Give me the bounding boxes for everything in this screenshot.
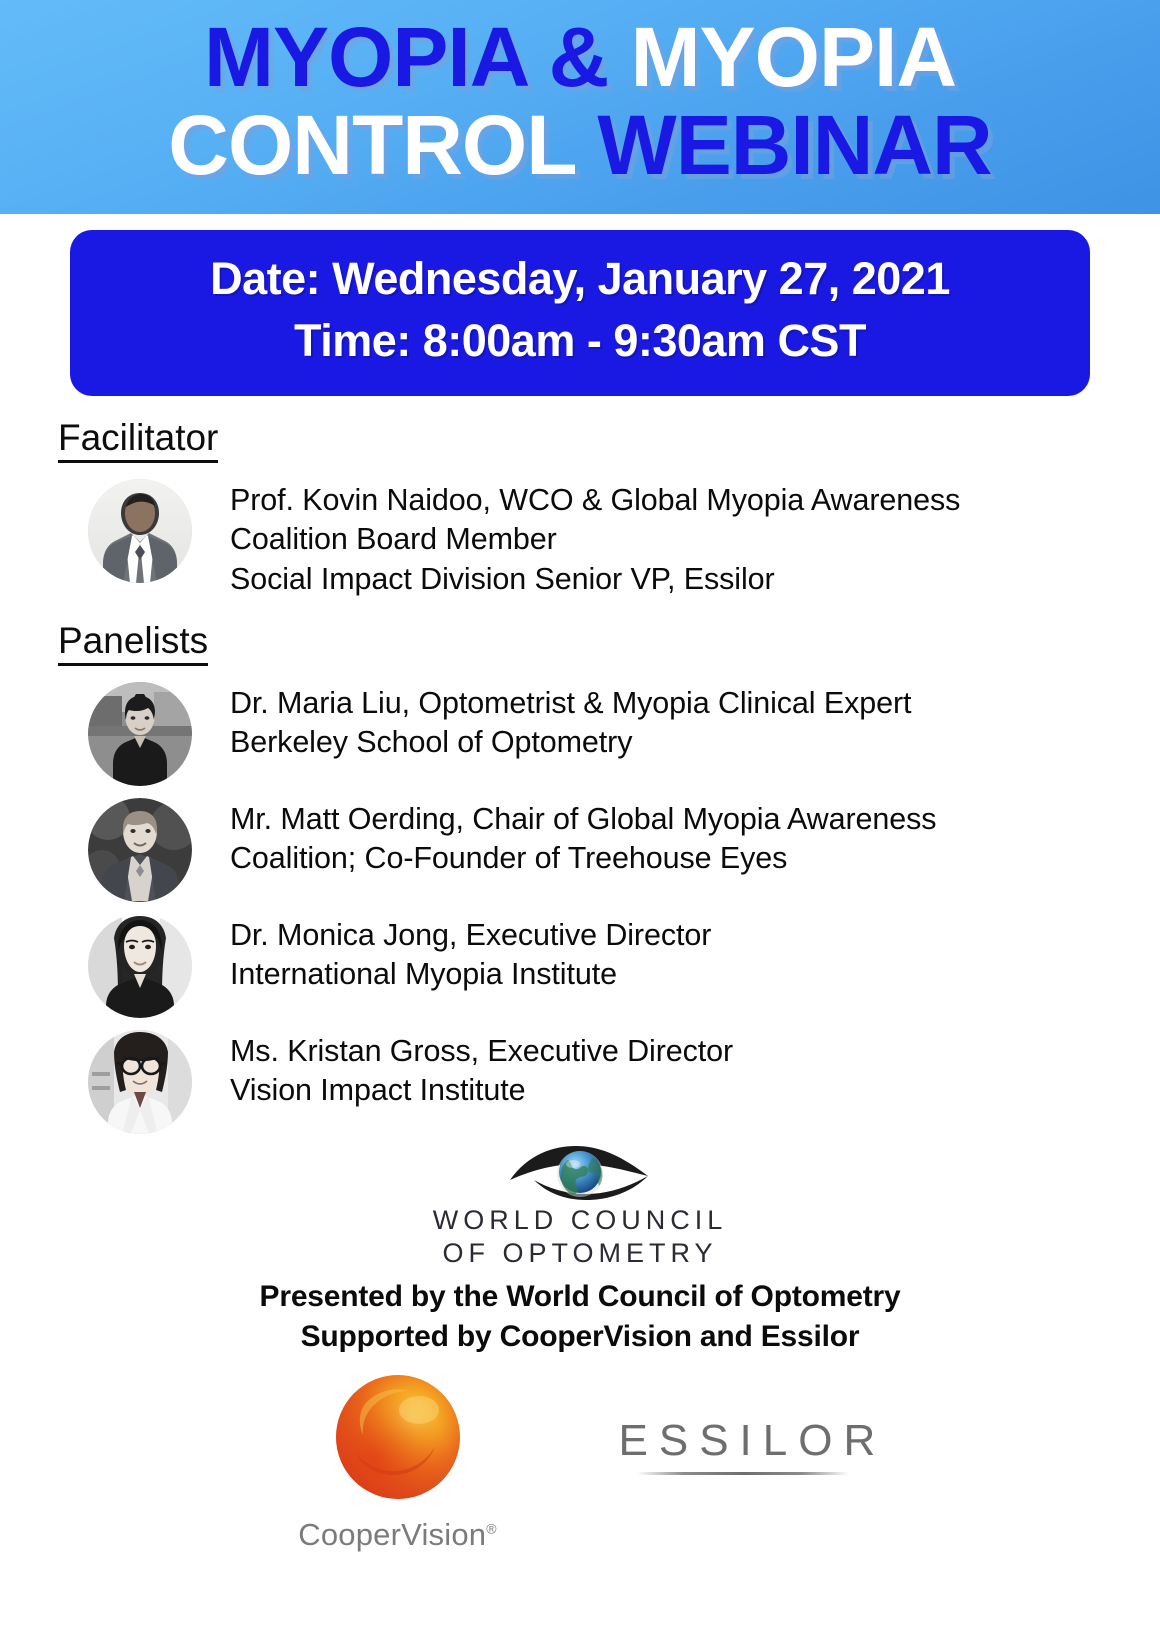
page-title-line-1: MYOPIA & MYOPIA	[0, 0, 1160, 98]
person-line: Prof. Kovin Naidoo, WCO & Global Myopia …	[230, 481, 960, 520]
sponsor-logos: CooperVision® ESSILOR	[0, 1366, 1160, 1553]
photo-kristan-gross	[88, 1030, 192, 1134]
eye-globe-icon	[480, 1140, 680, 1204]
person-line: Social Impact Division Senior VP, Essilo…	[230, 560, 960, 599]
photo-maria-liu	[88, 682, 192, 786]
coopervision-logo: CooperVision®	[283, 1366, 513, 1553]
photo-monica-jong	[88, 914, 192, 1018]
person-line: Coalition; Co-Founder of Treehouse Eyes	[230, 839, 936, 878]
panelists-heading: Panelists	[58, 621, 208, 666]
wco-logo-block: WORLD COUNCIL OF OPTOMETRY	[0, 1140, 1160, 1272]
wco-wordmark-line2: OF OPTOMETRY	[0, 1237, 1160, 1271]
person-line: Berkeley School of Optometry	[230, 723, 911, 762]
orange-sphere-icon	[327, 1366, 469, 1508]
facilitator-person: Prof. Kovin Naidoo, WCO & Global Myopia …	[88, 477, 1160, 599]
avatar	[88, 914, 192, 1018]
facilitator-section: Facilitator	[0, 396, 1160, 467]
person-line: Dr. Monica Jong, Executive Director	[230, 916, 711, 955]
datetime-banner: Date: Wednesday, January 27, 2021 Time: …	[70, 230, 1090, 396]
presented-by-text: Presented by the World Council of Optome…	[0, 1277, 1160, 1317]
title-part-control: CONTROL	[168, 98, 597, 192]
title-part-myopia-and: MYOPIA &	[204, 10, 631, 104]
header-banner: MYOPIA & MYOPIA CONTROL WEBINAR	[0, 0, 1160, 214]
avatar	[88, 682, 192, 786]
panelist-person: Dr. Monica Jong, Executive Director Inte…	[88, 912, 1160, 1018]
photo-kovin-naidoo	[88, 479, 192, 583]
page-title-line-2: CONTROL WEBINAR	[0, 98, 1160, 186]
facilitator-heading: Facilitator	[58, 418, 218, 463]
person-text: Ms. Kristan Gross, Executive Director Vi…	[230, 1028, 733, 1111]
person-line: Mr. Matt Oerding, Chair of Global Myopia…	[230, 800, 936, 839]
title-part-myopia: MYOPIA	[631, 10, 956, 104]
coopervision-wordmark: CooperVision®	[283, 1517, 513, 1553]
photo-matt-oerding	[88, 798, 192, 902]
avatar	[88, 798, 192, 902]
person-text: Dr. Maria Liu, Optometrist & Myopia Clin…	[230, 680, 911, 763]
person-text: Mr. Matt Oerding, Chair of Global Myopia…	[230, 796, 936, 879]
event-date: Date: Wednesday, January 27, 2021	[80, 248, 1080, 310]
person-line: International Myopia Institute	[230, 955, 711, 994]
person-line: Dr. Maria Liu, Optometrist & Myopia Clin…	[230, 684, 911, 723]
person-line: Coalition Board Member	[230, 520, 960, 559]
panelist-person: Ms. Kristan Gross, Executive Director Vi…	[88, 1028, 1160, 1134]
registered-mark: ®	[486, 1521, 497, 1537]
panelist-person: Dr. Maria Liu, Optometrist & Myopia Clin…	[88, 680, 1160, 786]
person-line: Vision Impact Institute	[230, 1071, 733, 1110]
wco-wordmark-line1: WORLD COUNCIL	[0, 1204, 1160, 1238]
essilor-underline	[637, 1472, 849, 1475]
coopervision-wordmark-text: CooperVision	[298, 1517, 486, 1552]
person-text: Dr. Monica Jong, Executive Director Inte…	[230, 912, 711, 995]
avatar	[88, 479, 192, 583]
panelists-section: Panelists	[0, 599, 1160, 670]
datetime-banner-wrapper: Date: Wednesday, January 27, 2021 Time: …	[0, 214, 1160, 396]
essilor-logo: ESSILOR	[608, 1366, 878, 1475]
person-line: Ms. Kristan Gross, Executive Director	[230, 1032, 733, 1071]
supported-by-text: Supported by CooperVision and Essilor	[0, 1317, 1160, 1357]
panelist-person: Mr. Matt Oerding, Chair of Global Myopia…	[88, 796, 1160, 902]
person-text: Prof. Kovin Naidoo, WCO & Global Myopia …	[230, 477, 960, 599]
title-part-webinar: WEBINAR	[597, 98, 991, 192]
avatar	[88, 1030, 192, 1134]
essilor-wordmark: ESSILOR	[608, 1416, 878, 1466]
event-time: Time: 8:00am - 9:30am CST	[80, 310, 1080, 372]
